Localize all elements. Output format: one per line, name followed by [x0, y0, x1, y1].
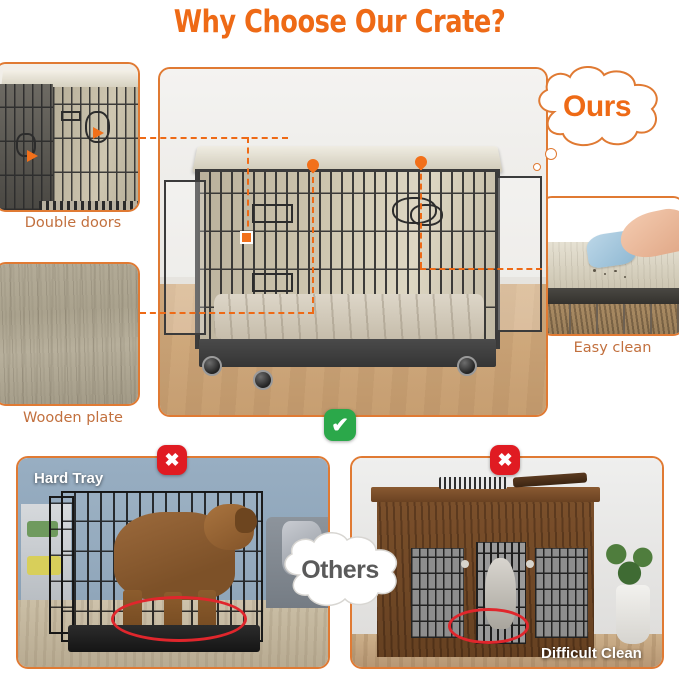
- door-arrow-marker-left: [27, 150, 38, 162]
- wooden-plate-texture: [0, 264, 138, 404]
- crate-cushion: [214, 294, 484, 339]
- callout-line-double-doors-h: [140, 137, 288, 139]
- callout-marker-double-doors: [240, 231, 253, 244]
- problem-highlight-ellipse: [111, 596, 247, 642]
- problem-highlight-ellipse: [448, 608, 529, 644]
- x-icon: ✖: [157, 445, 187, 475]
- bubble-others: Others: [269, 532, 411, 614]
- easy-clean-photo: [542, 198, 679, 334]
- plant-leaves: [603, 529, 656, 592]
- bubble-ours-trail-dot: [545, 148, 557, 160]
- feature-panel-wooden-plate: [0, 262, 140, 406]
- callout-line-wooden-plate-h: [140, 312, 314, 314]
- feature-panel-double-doors: [0, 62, 140, 212]
- caption-difficult-clean: Difficult Clean: [541, 645, 642, 662]
- caption-hard-tray: Hard Tray: [34, 470, 103, 487]
- crate-right-door: [496, 176, 542, 332]
- caster-wheel: [253, 370, 273, 390]
- callout-line-wooden-plate-v: [312, 167, 314, 313]
- feature-panel-easy-clean: [540, 196, 679, 336]
- dog-ear: [235, 508, 257, 533]
- door-arrow-marker-right: [93, 127, 104, 139]
- callout-line-double-doors-v: [247, 137, 249, 237]
- crate-wooden-tabletop: [192, 146, 502, 172]
- callout-line-easy-clean-v: [420, 164, 422, 268]
- bubble-ours-trail-dot: [533, 163, 541, 171]
- bubble-ours-label: Ours: [522, 60, 672, 154]
- crate-base-frame: [199, 339, 496, 367]
- planter: [616, 585, 650, 644]
- check-icon: ✔: [324, 409, 356, 441]
- callout-line-easy-clean-h: [420, 268, 542, 270]
- x-icon: ✖: [490, 445, 520, 475]
- caption-wooden-plate: Wooden plate: [0, 410, 146, 426]
- page-title: Why Choose Our Crate?: [27, 4, 652, 40]
- bubble-ours: Ours: [522, 66, 672, 154]
- main-product-panel: [158, 67, 548, 417]
- bubble-others-label: Others: [269, 526, 411, 614]
- double-doors-photo: [0, 64, 138, 210]
- main-product-photo: [160, 69, 546, 415]
- caption-double-doors: Double doors: [0, 215, 146, 231]
- caption-easy-clean: Easy clean: [540, 340, 679, 356]
